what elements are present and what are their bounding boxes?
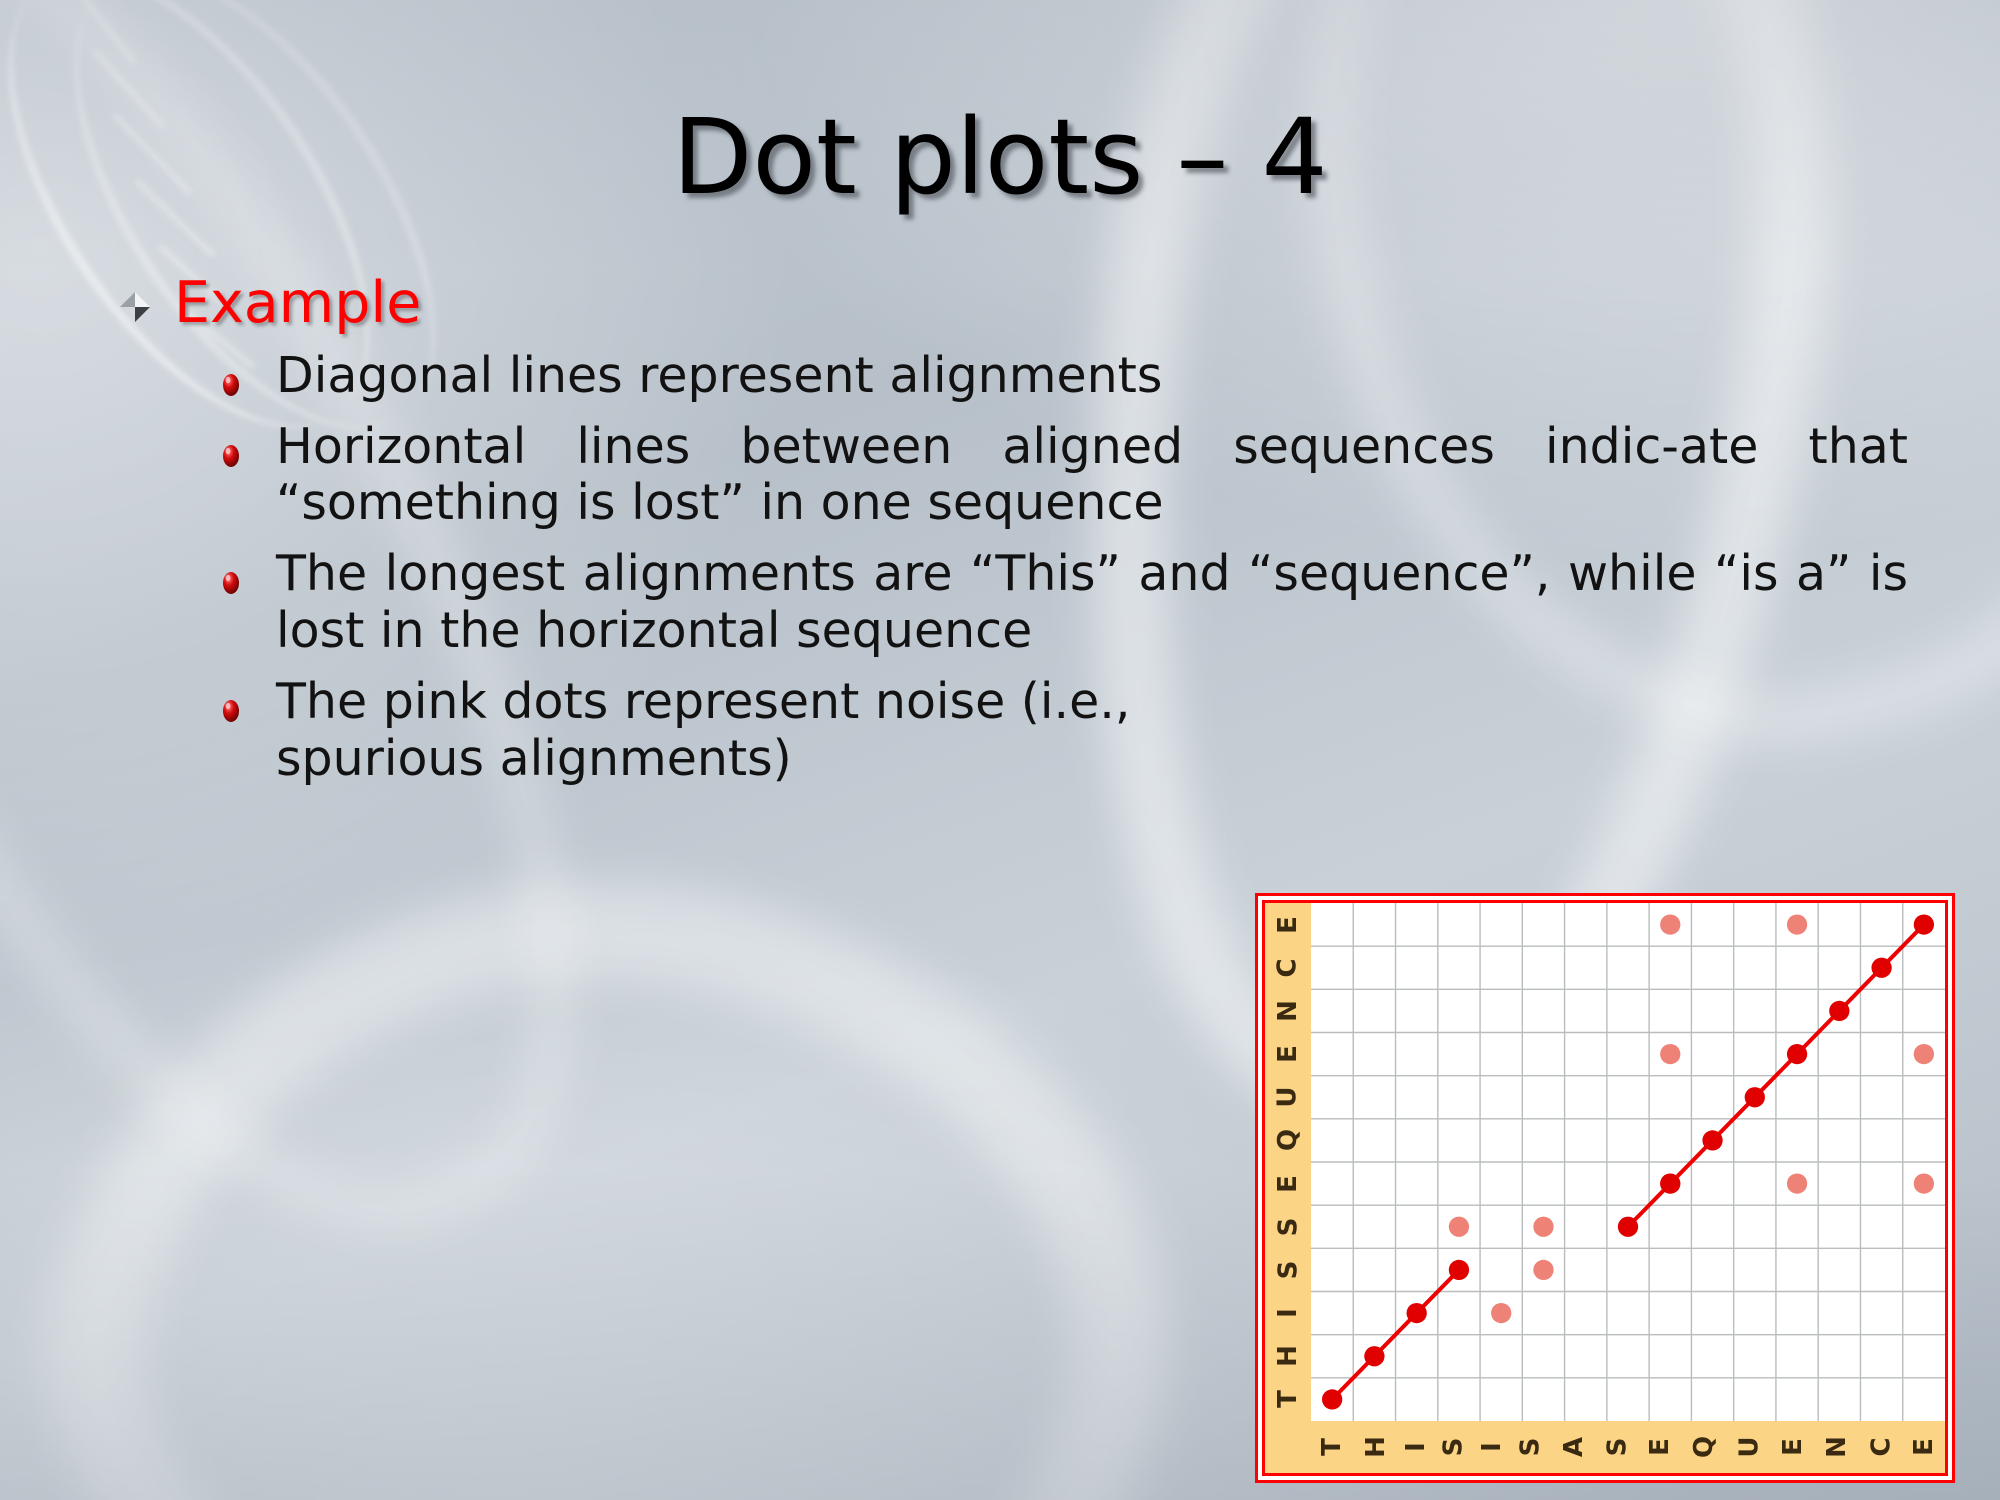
x-tick-label: S xyxy=(1441,1438,1467,1457)
outline-item-diagonal-lines[interactable]: Diagonal lines represent alignments xyxy=(218,348,1908,405)
x-tick-label: U xyxy=(1736,1436,1762,1457)
outline-level2-list: Diagonal lines represent alignments Hori… xyxy=(118,348,1908,788)
x-tick-label: H xyxy=(1363,1436,1389,1458)
dot-plot-figure: THISSEQUENCE THISISASEQUENCE xyxy=(1255,893,1955,1483)
noise-dot xyxy=(1533,1217,1553,1237)
red-sphere-bullet-icon xyxy=(218,546,276,596)
outline-item-longest-alignments[interactable]: The longest alignments are “This” and “s… xyxy=(218,546,1908,660)
x-tick-label: N xyxy=(1824,1436,1850,1458)
dot-plot-x-axis: THISISASEQUENCE xyxy=(1311,1421,1945,1473)
match-dot xyxy=(1407,1303,1427,1323)
y-tick-label: S xyxy=(1275,1217,1301,1236)
match-dot xyxy=(1660,1173,1680,1193)
y-tick-label: Q xyxy=(1275,1129,1301,1151)
noise-dot xyxy=(1533,1260,1553,1280)
x-tick-label: C xyxy=(1868,1437,1894,1456)
y-tick-label: E xyxy=(1275,916,1301,934)
y-tick-label: H xyxy=(1275,1345,1301,1367)
slide-body: Example xyxy=(118,272,1908,802)
outline-level1-label: Example xyxy=(174,272,421,336)
y-tick-label: C xyxy=(1275,958,1301,977)
match-dot xyxy=(1745,1087,1765,1107)
slide-title: Dot plots – 4 xyxy=(0,96,2000,218)
outline-item-text: Diagonal lines represent alignments xyxy=(276,348,1162,405)
outline-level1-item[interactable]: Example xyxy=(118,272,1908,336)
dot-plot-y-axis: THISSEQUENCE xyxy=(1265,903,1311,1421)
dot-plot-data-layer xyxy=(1311,903,1945,1421)
noise-dot xyxy=(1787,914,1807,934)
outline-item-pink-dots[interactable]: The pink dots represent noise (i.e., spu… xyxy=(218,674,1298,788)
noise-dot xyxy=(1660,1044,1680,1064)
y-tick-label: N xyxy=(1275,1000,1301,1022)
alignment-line xyxy=(1332,1270,1459,1400)
match-dot xyxy=(1787,1044,1807,1064)
red-sphere-bullet-icon xyxy=(218,419,276,469)
x-tick-label: I xyxy=(1403,1442,1429,1452)
match-dot xyxy=(1829,1001,1849,1021)
noise-dot xyxy=(1660,914,1680,934)
outline-item-text: The longest alignments are “This” and “s… xyxy=(276,546,1908,660)
x-tick-label: S xyxy=(1604,1438,1630,1457)
x-tick-label: E xyxy=(1911,1438,1937,1456)
red-sphere-bullet-icon xyxy=(218,674,276,724)
x-tick-label: A xyxy=(1561,1437,1587,1457)
match-dot xyxy=(1702,1130,1722,1150)
x-tick-label: I xyxy=(1479,1442,1505,1452)
dot-plot-frame: THISSEQUENCE THISISASEQUENCE xyxy=(1262,900,1948,1476)
outline-item-text: The pink dots represent noise (i.e., spu… xyxy=(276,674,1298,788)
noise-dot xyxy=(1449,1217,1469,1237)
y-tick-label: T xyxy=(1275,1390,1301,1408)
dot-plot-axis-corner xyxy=(1265,1421,1311,1473)
slide-canvas: Dot plots – 4 Example xyxy=(0,0,2000,1500)
match-dot xyxy=(1914,914,1934,934)
y-tick-label: U xyxy=(1275,1087,1301,1108)
outline-item-horizontal-lines[interactable]: Horizontal lines between aligned sequenc… xyxy=(218,419,1908,533)
red-sphere-bullet-icon xyxy=(218,348,276,398)
match-dot xyxy=(1364,1346,1384,1366)
noise-dot xyxy=(1914,1173,1934,1193)
outline-item-text: Horizontal lines between aligned sequenc… xyxy=(276,419,1908,533)
y-tick-label: E xyxy=(1275,1175,1301,1193)
y-tick-label: I xyxy=(1275,1308,1301,1318)
match-dot xyxy=(1871,958,1891,978)
y-tick-label: E xyxy=(1275,1045,1301,1063)
x-tick-label: T xyxy=(1319,1438,1345,1456)
y-tick-label: S xyxy=(1275,1260,1301,1279)
dot-plot-plot-area xyxy=(1311,903,1945,1421)
noise-dot xyxy=(1914,1044,1934,1064)
diamond-bullet-icon xyxy=(118,272,174,324)
match-dot xyxy=(1618,1217,1638,1237)
x-tick-label: E xyxy=(1647,1438,1673,1456)
noise-dot xyxy=(1491,1303,1511,1323)
x-tick-label: S xyxy=(1517,1438,1543,1457)
noise-dot xyxy=(1787,1173,1807,1193)
x-tick-label: Q xyxy=(1691,1436,1717,1458)
x-tick-label: E xyxy=(1780,1438,1806,1456)
match-dot xyxy=(1449,1260,1469,1280)
match-dot xyxy=(1322,1389,1342,1409)
